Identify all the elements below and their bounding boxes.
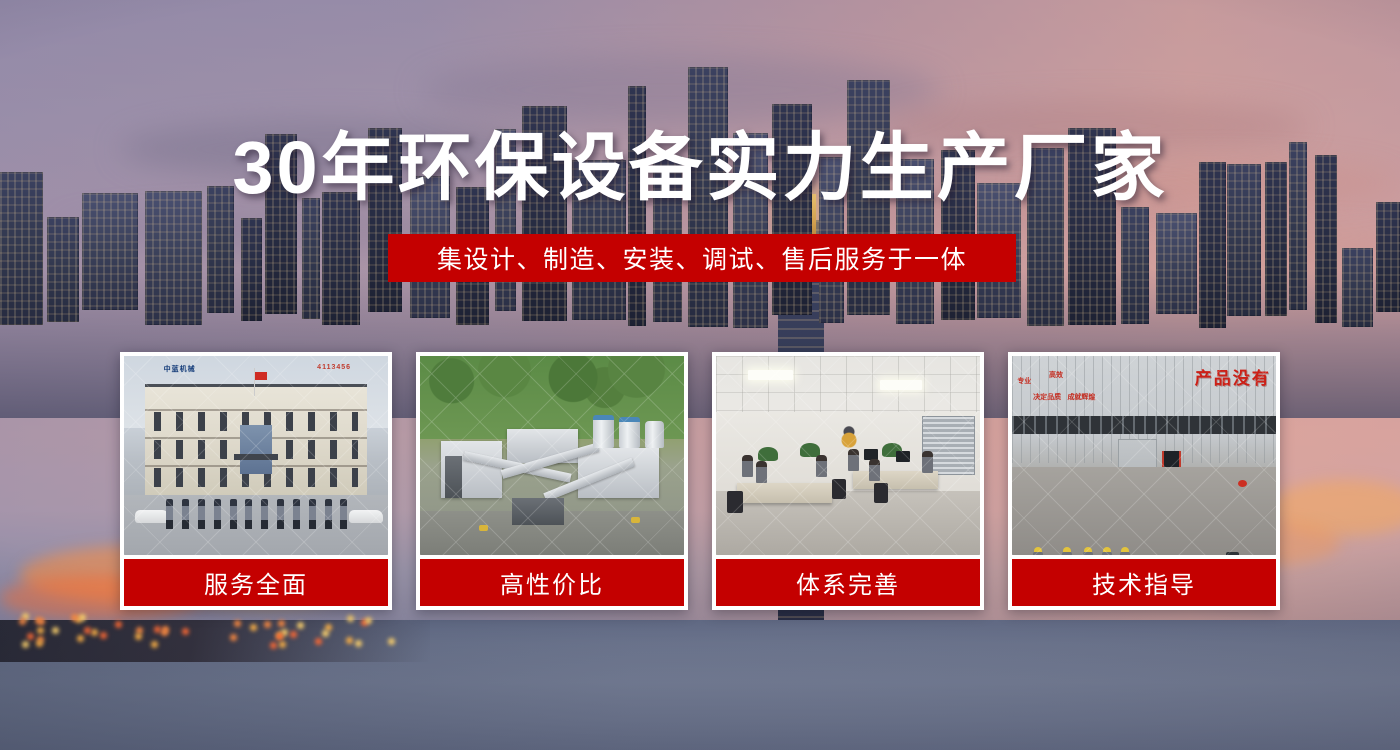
factory-small-sign: 决定品质	[1033, 392, 1061, 402]
shore-light	[270, 642, 277, 649]
feature-card[interactable]: 高性价比	[416, 352, 688, 610]
staff-person	[325, 499, 332, 529]
dark-shed	[512, 498, 564, 525]
office-desk	[853, 471, 937, 489]
staff-person	[277, 499, 284, 529]
building-phone-number: 4113456	[317, 364, 351, 371]
industrial-plant	[436, 424, 674, 547]
skyline-building	[1121, 207, 1149, 324]
shore-light	[279, 641, 286, 648]
stack-structure	[445, 456, 462, 498]
staff-person	[261, 499, 268, 529]
skyline-building	[322, 192, 360, 325]
office-desk	[737, 483, 832, 503]
feature-card[interactable]: 中蓝机械 4113456 服务全面	[120, 352, 392, 610]
promo-banner: 30年环保设备实力生产厂家 集设计、制造、安装、调试、售后服务于一体	[0, 0, 1400, 750]
factory-workers-training-photo: 产品没有 专业 高效 决定品质 成就辉煌	[1012, 356, 1276, 555]
shore-light	[19, 618, 26, 625]
shore-light	[84, 627, 91, 634]
storage-silo	[619, 419, 640, 449]
computer-monitor	[896, 451, 910, 462]
feature-card[interactable]: 体系完善	[712, 352, 984, 610]
entrance-canopy	[234, 454, 278, 460]
feature-card-row: 中蓝机械 4113456 服务全面	[120, 352, 1280, 610]
shore-lights	[0, 612, 400, 648]
factory-big-sign: 产品没有	[1195, 364, 1271, 389]
staff-person	[230, 499, 237, 529]
feature-card-label: 体系完善	[716, 559, 980, 606]
office-chair	[874, 483, 888, 503]
worker-body	[1083, 552, 1093, 555]
shore-light	[100, 632, 107, 639]
building-sign-text: 中蓝机械	[164, 364, 196, 374]
factory-yard	[1012, 467, 1276, 554]
ceiling-light	[748, 370, 793, 380]
office-worker	[742, 455, 753, 477]
shore-light	[297, 622, 304, 629]
staff-person	[214, 499, 221, 529]
shore-light	[278, 620, 285, 627]
parked-car	[349, 510, 383, 523]
worker-body	[1033, 552, 1043, 555]
shore-light	[365, 617, 372, 624]
staff-person	[182, 499, 189, 529]
factory-small-sign: 专业	[1017, 376, 1031, 386]
staff-person	[309, 499, 316, 529]
silo-top	[593, 415, 614, 420]
skyline-building	[1156, 213, 1197, 314]
office-worker	[922, 451, 933, 473]
feature-card[interactable]: 产品没有 专业 高效 决定品质 成就辉煌 技术指导	[1008, 352, 1280, 610]
staff-person	[245, 499, 252, 529]
staff-person	[198, 499, 205, 529]
shore-light	[38, 618, 45, 625]
floor-divider	[145, 409, 367, 411]
skyline-building	[145, 191, 202, 325]
skyline-building	[1342, 248, 1373, 327]
skyline-building	[47, 217, 79, 322]
shore-light	[347, 615, 354, 622]
shore-light	[27, 633, 34, 640]
shore-light	[79, 614, 86, 621]
building-entrance	[240, 425, 271, 474]
wall-decal	[832, 424, 866, 450]
office-worker	[756, 461, 767, 483]
silo-top	[619, 417, 640, 422]
parked-car	[135, 510, 169, 523]
subtitle-banner: 集设计、制造、安装、调试、售后服务于一体	[388, 234, 1016, 282]
shore-light	[22, 641, 29, 648]
subtitle-text: 集设计、制造、安装、调试、售后服务于一体	[437, 240, 967, 276]
aerial-industrial-plant-photo	[420, 356, 684, 555]
shore-light	[135, 633, 142, 640]
shore-light	[355, 640, 362, 647]
shore-light	[250, 624, 257, 631]
skyline-building	[302, 198, 320, 319]
photo-ground	[124, 495, 388, 555]
shore-light	[161, 629, 168, 636]
shore-light	[115, 621, 122, 628]
staff-person	[340, 499, 347, 529]
storage-silo	[593, 416, 614, 448]
staff-person	[166, 499, 173, 529]
company-building-staff-photo: 中蓝机械 4113456	[124, 356, 388, 555]
shore-light	[315, 638, 322, 645]
shore-light	[71, 614, 78, 621]
office-building	[145, 384, 367, 499]
skyline-building	[241, 218, 262, 321]
shore-light	[77, 635, 84, 642]
worker-body	[1120, 552, 1130, 555]
office-interior-staff-photo	[716, 356, 980, 555]
excavator	[479, 525, 488, 531]
national-flag	[255, 372, 267, 380]
shore-light	[234, 620, 241, 627]
shore-light	[91, 629, 98, 636]
storage-silo	[645, 421, 664, 448]
office-worker	[816, 455, 827, 477]
feature-card-label-text: 高性价比	[500, 565, 604, 600]
shore-light	[182, 628, 189, 635]
shore-light	[154, 626, 161, 633]
worker-body	[1062, 552, 1072, 555]
feature-card-label: 技术指导	[1012, 559, 1276, 606]
factory-small-sign: 成就辉煌	[1067, 392, 1095, 402]
factory-window-band	[1012, 416, 1276, 434]
feature-card-label: 高性价比	[420, 559, 684, 606]
shore-light	[230, 634, 237, 641]
shore-light	[37, 627, 44, 634]
shore-light	[36, 640, 43, 647]
office-worker	[869, 459, 880, 481]
worker-body	[1102, 552, 1112, 555]
shore-light	[276, 633, 283, 640]
office-worker	[848, 449, 859, 471]
shore-light	[52, 627, 59, 634]
feature-card-label-text: 服务全面	[204, 565, 308, 600]
shore-light	[151, 641, 158, 648]
feature-card-label: 服务全面	[124, 559, 388, 606]
skyline-building	[82, 193, 138, 310]
factory-small-sign: 高效	[1049, 370, 1063, 380]
page-title: 30年环保设备实力生产厂家	[0, 128, 1400, 208]
shore-light	[264, 621, 271, 628]
shore-light	[388, 638, 395, 645]
feature-card-label-text: 技术指导	[1092, 565, 1196, 600]
shore-light	[322, 630, 329, 637]
supervisor-body	[1226, 552, 1239, 555]
office-plant	[758, 447, 778, 461]
staff-person	[293, 499, 300, 529]
office-chair	[832, 479, 846, 499]
office-chair	[727, 491, 743, 513]
shore-light	[346, 637, 353, 644]
shore-light	[290, 631, 297, 638]
skyline-building	[1376, 202, 1400, 312]
feature-card-label-text: 体系完善	[796, 565, 900, 600]
excavator	[631, 517, 640, 523]
ceiling-light	[880, 380, 922, 390]
office-ceiling	[716, 356, 980, 416]
